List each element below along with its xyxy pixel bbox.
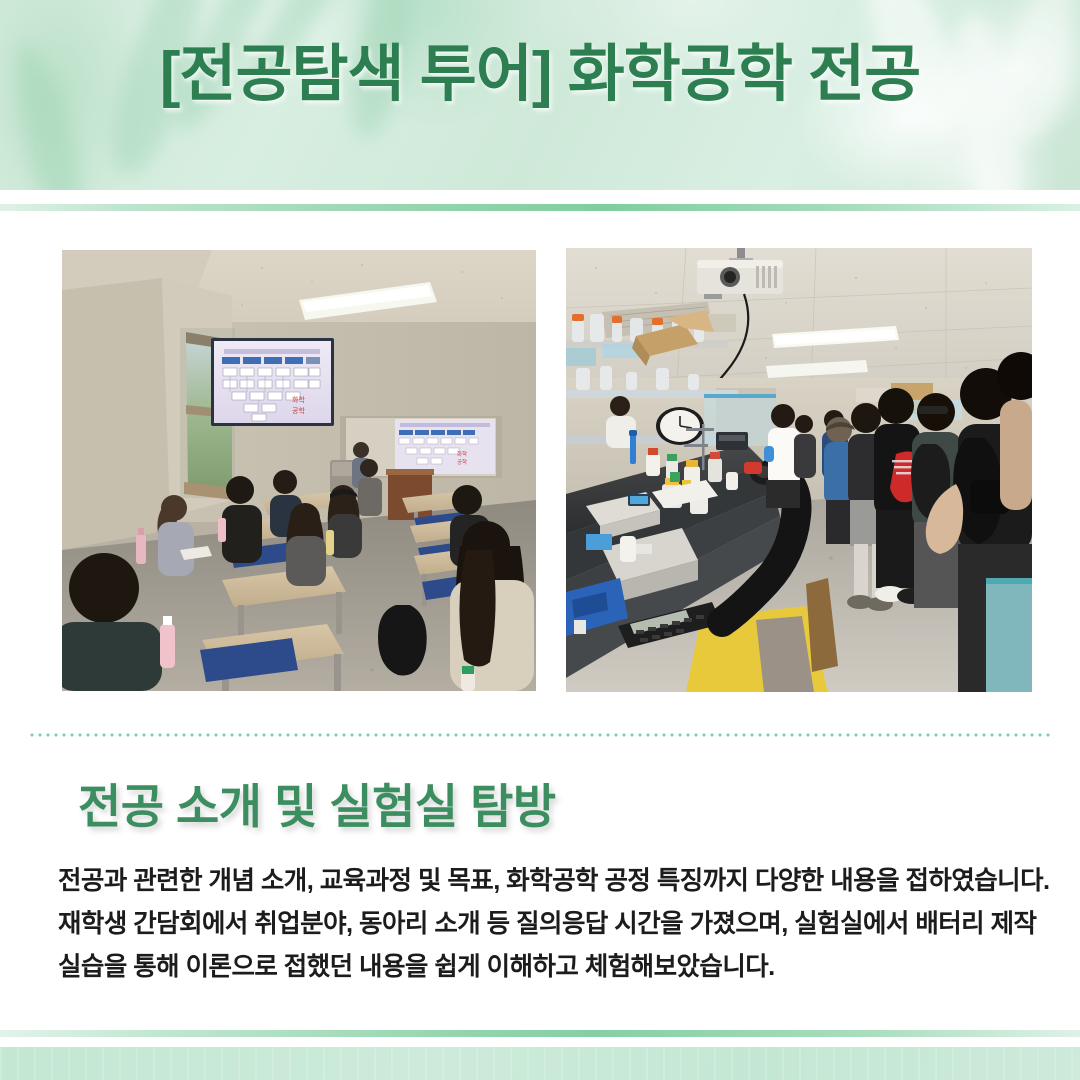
dotted-divider <box>28 733 1052 737</box>
footer-band <box>0 1047 1080 1080</box>
page-title: [전공탐색 투어] 화학공학 전공 <box>0 42 1080 109</box>
section-paragraph: 전공과 관련한 개념 소개, 교육과정 및 목표, 화학공학 공정 특징까지 다… <box>58 860 1048 989</box>
classroom-lecture-photo: 화학 공학 <box>62 250 536 691</box>
svg-text:화학: 화학 <box>292 395 305 404</box>
svg-text:공학: 공학 <box>292 406 305 415</box>
classroom-scene-illustration: 화학 공학 <box>62 250 536 691</box>
laboratory-tour-photo <box>566 248 1032 692</box>
paragraph-line-2: 재학생 간담회에서 취업분야, 동아리 소개 등 질의응답 시간을 가졌으며, … <box>58 903 1048 946</box>
footer-top-rule <box>0 1030 1080 1037</box>
svg-text:화학: 화학 <box>457 450 467 458</box>
paragraph-line-1: 전공과 관련한 개념 소개, 교육과정 및 목표, 화학공학 공정 특징까지 다… <box>58 860 1048 903</box>
svg-text:공학: 공학 <box>457 458 467 466</box>
paragraph-line-3: 실습을 통해 이론으로 접했던 내용을 쉽게 이해하고 체험해보았습니다. <box>58 946 1048 989</box>
laboratory-scene-illustration <box>566 248 1032 692</box>
promo-card: [전공탐색 투어] 화학공학 전공 <box>0 0 1080 1080</box>
section-subtitle: 전공 소개 및 실험실 탐방 <box>78 768 556 837</box>
